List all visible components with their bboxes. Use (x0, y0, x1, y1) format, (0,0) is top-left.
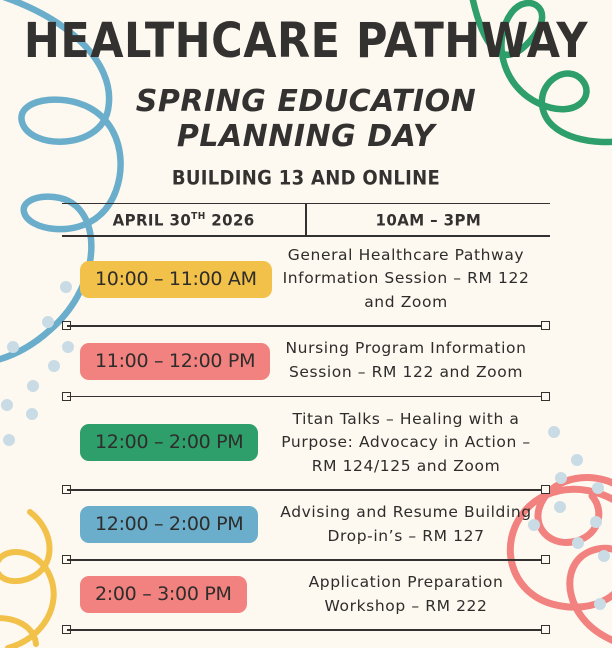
session-description: Nursing Program Information Session – RM… (268, 337, 550, 384)
time-pill: 12:00 – 2:00 PM (80, 424, 258, 461)
time-cell: 10:00 – 11:00 AM (62, 261, 268, 298)
schedule-row: 2:00 – 3:00 PM Application Preparation W… (62, 564, 550, 625)
table-header-row: APRIL 30TH 2026 10AM – 3PM (62, 204, 550, 235)
session-description: Titan Talks – Healing with a Purpose: Ad… (268, 408, 550, 479)
schedule-row: 11:00 – 12:00 PM Nursing Program Informa… (62, 330, 550, 391)
row-divider (62, 555, 550, 564)
divider-line (67, 559, 545, 561)
divider-line (67, 325, 545, 327)
poster-canvas: HEALTHCARE PATHWAY SPRING EDUCATION PLAN… (0, 0, 612, 648)
time-pill: 2:00 – 3:00 PM (80, 576, 247, 613)
subtitle-line-1: SPRING EDUCATION (0, 84, 612, 119)
date-ordinal-suffix: TH (191, 211, 205, 222)
venue-label: BUILDING 13 AND ONLINE (0, 167, 612, 190)
row-divider (62, 485, 550, 494)
poster-header: HEALTHCARE PATHWAY SPRING EDUCATION PLAN… (0, 0, 612, 189)
divider-cap-right (541, 625, 550, 634)
time-pill: 10:00 – 11:00 AM (80, 261, 272, 298)
time-cell: 2:00 – 3:00 PM (62, 576, 268, 613)
divider-cap-right (541, 392, 550, 401)
row-divider (62, 392, 550, 401)
divider-line (67, 396, 545, 398)
session-description: Application Preparation Workshop – RM 22… (268, 571, 550, 618)
divider-line (67, 489, 545, 491)
table-header-date: APRIL 30TH 2026 (62, 210, 305, 229)
divider-cap-right (541, 485, 550, 494)
schedule-table: APRIL 30TH 2026 10AM – 3PM 10:00 – 11:00… (62, 203, 550, 635)
time-cell: 12:00 – 2:00 PM (62, 424, 268, 461)
date-year: 2026 (211, 210, 254, 229)
row-divider (62, 625, 550, 634)
time-cell: 11:00 – 12:00 PM (62, 343, 268, 380)
squiggle-yellow-bottomleft-2 (0, 618, 36, 644)
time-cell: 12:00 – 2:00 PM (62, 506, 268, 543)
session-description: Advising and Resume Building Drop-in’s –… (268, 501, 550, 548)
time-pill: 11:00 – 12:00 PM (80, 343, 270, 380)
subtitle: SPRING EDUCATION PLANNING DAY (0, 84, 612, 155)
table-header-hours: 10AM – 3PM (307, 210, 550, 229)
divider-cap-right (541, 555, 550, 564)
page-title: HEALTHCARE PATHWAY (0, 18, 612, 67)
row-divider (62, 321, 550, 330)
time-pill: 12:00 – 2:00 PM (80, 506, 258, 543)
schedule-row: 12:00 – 2:00 PM Titan Talks – Healing wi… (62, 401, 550, 486)
session-description: General Healthcare Pathway Information S… (268, 244, 550, 315)
divider-cap-right (541, 321, 550, 330)
divider-line (67, 629, 545, 631)
schedule-row: 10:00 – 11:00 AM General Healthcare Path… (62, 237, 550, 322)
squiggle-yellow-bottomleft (0, 512, 54, 648)
schedule-row: 12:00 – 2:00 PM Advising and Resume Buil… (62, 494, 550, 555)
subtitle-line-2: PLANNING DAY (0, 119, 612, 154)
date-text: APRIL 30 (113, 210, 192, 229)
